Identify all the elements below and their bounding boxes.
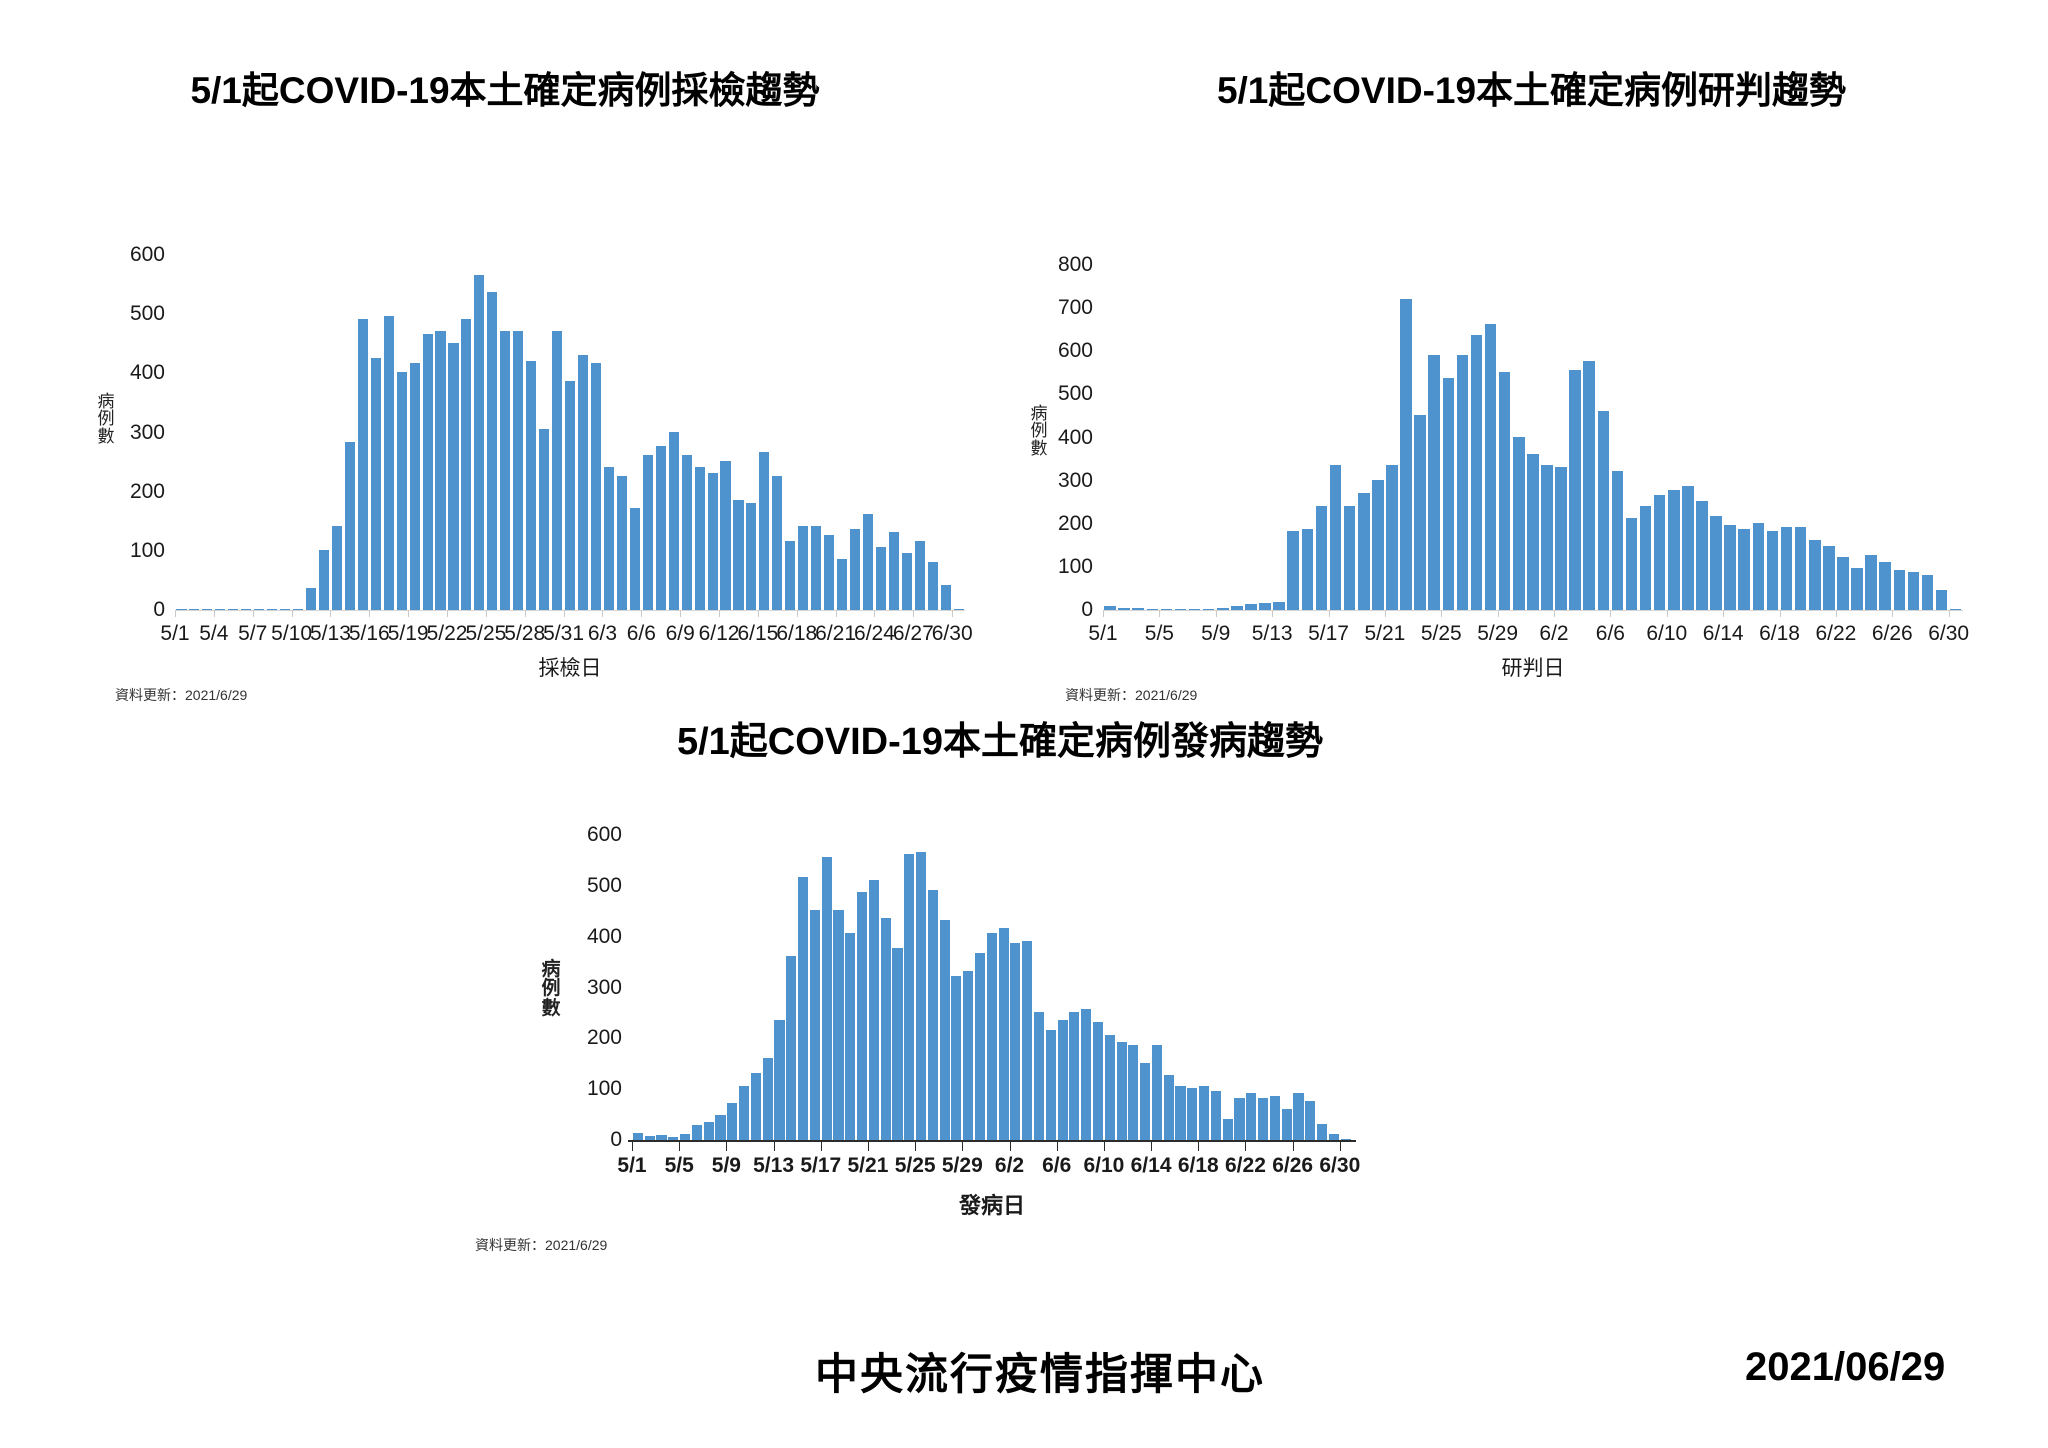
chart-panel-sampling: 5/1起COVID-19本土確定病例採檢趨勢 病例數 0100200300400… [0, 60, 1010, 660]
bar-slot [750, 835, 762, 1140]
bar [1710, 516, 1722, 610]
x-tick-label: 5/29 [942, 1154, 983, 1178]
x-tick-mark [1667, 610, 1681, 617]
bar-slot [632, 835, 644, 1140]
y-tick-label: 200 [1041, 512, 1093, 536]
x-tick-mark [382, 610, 395, 617]
x-tick-mark [201, 610, 214, 617]
x-tick-mark [1163, 1142, 1175, 1149]
infographic-page: 5/1起COVID-19本土確定病例採檢趨勢 病例數 0100200300400… [0, 0, 2048, 1448]
x-tick-mark [915, 1142, 927, 1149]
bar-slot [1159, 265, 1173, 610]
x-tick-mark [1385, 610, 1399, 617]
x-tick-mark [499, 610, 512, 617]
bar [692, 1125, 702, 1140]
x-tick-mark [903, 1142, 915, 1149]
x-tick-mark [1103, 610, 1117, 617]
bar [1922, 575, 1934, 611]
x-tick-mark [1709, 610, 1723, 617]
bar [941, 585, 951, 610]
x-tick-mark [1117, 610, 1131, 617]
bar-slot [913, 255, 926, 610]
y-tick-label: 700 [1041, 296, 1093, 320]
bar [1908, 572, 1920, 610]
bar-slot [1127, 835, 1139, 1140]
y-tick-label: 200 [113, 480, 165, 504]
bar [1781, 527, 1793, 610]
bar [1246, 1093, 1256, 1140]
x-tick-mark [590, 610, 603, 617]
x-tick-label: 5/9 [1201, 622, 1230, 646]
x-tick-mark [1173, 610, 1187, 617]
bar-slot [900, 255, 913, 610]
bar-slot [1864, 265, 1878, 610]
bar [1046, 1030, 1056, 1140]
x-tick-mark [939, 1142, 951, 1149]
bar-slot [266, 255, 279, 610]
x-tick-mark [1695, 610, 1709, 617]
bar-slot [1202, 265, 1216, 610]
bar [892, 948, 902, 1140]
bar [1879, 562, 1891, 610]
x-tick-mark [175, 610, 188, 617]
bar-slot [1906, 265, 1920, 610]
bar-slot [175, 255, 188, 610]
x-tick-mark [719, 610, 732, 617]
bar-slot [821, 835, 833, 1140]
bar-slot [771, 255, 784, 610]
bar [1302, 529, 1314, 610]
bar [1372, 480, 1384, 610]
bar-slot [1139, 835, 1151, 1140]
bar [1010, 943, 1020, 1140]
x-tick-mark [926, 610, 939, 617]
bar-slot [986, 835, 998, 1140]
x-tick-label: 6/6 [1596, 622, 1625, 646]
x-tick-label: 6/18 [1759, 622, 1800, 646]
bar-slot [844, 835, 856, 1140]
bar [1105, 1035, 1115, 1140]
bar-slot [201, 255, 214, 610]
bar [928, 562, 938, 610]
x-tick-label: 5/17 [1308, 622, 1349, 646]
x-tick-label: 5/25 [465, 622, 506, 646]
bar [1513, 437, 1525, 611]
bar-slot [1343, 265, 1357, 610]
bar-slot [240, 255, 253, 610]
x-tick-label: 5/13 [310, 622, 351, 646]
x-tick-mark [615, 610, 628, 617]
x-tick-label: 6/30 [1319, 1154, 1360, 1178]
y-tick-label: 400 [113, 361, 165, 385]
bar [695, 467, 705, 610]
bar-slot [188, 255, 201, 610]
bar [1654, 495, 1666, 610]
x-tick-mark [1021, 1142, 1033, 1149]
x-tick-mark [1582, 610, 1596, 617]
bar [552, 331, 562, 610]
bar-slot [927, 835, 939, 1140]
x-tick-mark [892, 1142, 904, 1149]
bar-slot [1145, 265, 1159, 610]
x-tick-mark [1455, 610, 1469, 617]
bar-slot [1186, 835, 1198, 1140]
bar-slot [1949, 265, 1963, 610]
x-tick-label: 6/6 [1042, 1154, 1071, 1178]
x-tick-mark [1469, 610, 1483, 617]
x-tick-mark [1245, 1142, 1257, 1149]
x-tick-mark [644, 1142, 656, 1149]
bar-slot [343, 255, 356, 610]
bar [708, 473, 718, 610]
x-tick-mark [253, 610, 266, 617]
bar [824, 535, 834, 610]
x-tick-mark [1512, 610, 1526, 617]
x-tick-mark [1340, 1142, 1352, 1149]
y-tick-label: 100 [1041, 555, 1093, 579]
bar [1330, 465, 1342, 610]
x-tick-mark [1131, 610, 1145, 617]
bar [1428, 355, 1440, 610]
x-tick-label: 5/5 [665, 1154, 694, 1178]
bar-slot [227, 255, 240, 610]
bar [1894, 570, 1906, 610]
bar-slot [874, 255, 887, 610]
bar-slot [856, 835, 868, 1140]
bar [1273, 602, 1285, 610]
x-tick-mark [927, 1142, 939, 1149]
bar [1626, 518, 1638, 610]
x-tick-label: 6/30 [932, 622, 973, 646]
y-tick-label: 300 [570, 976, 622, 1000]
bar [798, 877, 808, 1140]
bar [617, 476, 627, 610]
x-tick-mark [1329, 610, 1343, 617]
x-tick-mark [1343, 610, 1357, 617]
x-tick-mark [1935, 610, 1949, 617]
x-tick-mark [408, 610, 421, 617]
bar [1400, 299, 1412, 611]
x-tick-label: 6/15 [737, 622, 778, 646]
bar [1270, 1096, 1280, 1140]
bar [785, 541, 795, 610]
bar-slot [1568, 265, 1582, 610]
x-tick-label: 5/28 [504, 622, 545, 646]
bar-slot [1751, 265, 1765, 610]
y-tick-label: 500 [570, 874, 622, 898]
y-tick-label: 200 [570, 1026, 622, 1050]
bar-slot [1385, 265, 1399, 610]
bar [1058, 1020, 1068, 1140]
x-tick-mark [1281, 1142, 1293, 1149]
bar [876, 547, 886, 610]
x-axis-tickmarks-sampling [175, 610, 965, 617]
bar-slot [1198, 835, 1210, 1140]
x-tick-label: 5/21 [1364, 622, 1405, 646]
y-tick-label: 0 [113, 598, 165, 622]
x-tick-mark [1244, 610, 1258, 617]
x-tick-label: 5/25 [1421, 622, 1462, 646]
x-tick-mark [758, 610, 771, 617]
bar [448, 343, 458, 610]
plot-area-sampling: 病例數 0100200300400500600 5/15/45/75/105/1… [0, 60, 1010, 660]
bar-slot [903, 835, 915, 1140]
y-tick-label: 100 [570, 1077, 622, 1101]
bar [1117, 1042, 1127, 1140]
x-tick-mark [844, 1142, 856, 1149]
bar-slot [305, 255, 318, 610]
x-tick-mark [1210, 1142, 1222, 1149]
bar [1316, 506, 1328, 611]
bar-slot [602, 255, 615, 610]
bar-slot [1222, 835, 1234, 1140]
x-tick-mark [679, 1142, 691, 1149]
x-tick-mark [874, 610, 887, 617]
x-tick-mark [1104, 1142, 1116, 1149]
y-tick-label: 400 [570, 925, 622, 949]
bar [1851, 568, 1863, 610]
bar-slot [679, 835, 691, 1140]
bar-slot [1653, 265, 1667, 610]
bar [963, 971, 973, 1140]
x-tick-mark [1127, 1142, 1139, 1149]
y-tick-label: 600 [570, 823, 622, 847]
bar [733, 500, 743, 610]
data-update-note-sampling: 資料更新：2021/6/29 [115, 685, 247, 705]
x-tick-mark [706, 610, 719, 617]
bar-slot [1173, 265, 1187, 610]
bar-slot [1469, 265, 1483, 610]
x-tick-label: 6/10 [1646, 622, 1687, 646]
bar [371, 358, 381, 610]
bar [578, 355, 588, 610]
bar-slot [998, 835, 1010, 1140]
bar [1809, 540, 1821, 610]
bar-slot [1709, 265, 1723, 610]
bar [850, 529, 860, 610]
bar [1865, 555, 1877, 610]
x-tick-mark [1737, 610, 1751, 617]
x-tick-mark [1836, 610, 1850, 617]
x-tick-mark [1188, 610, 1202, 617]
bar [1823, 546, 1835, 610]
bar [975, 953, 985, 1140]
bar-slot [1639, 265, 1653, 610]
bar-slot [797, 835, 809, 1140]
bar [643, 455, 653, 610]
bar [1457, 355, 1469, 610]
x-tick-label: 6/12 [699, 622, 740, 646]
bar-slot [758, 255, 771, 610]
x-tick-label: 6/18 [776, 622, 817, 646]
x-tick-mark [745, 610, 758, 617]
bar-slot [1582, 265, 1596, 610]
bar-slot [951, 835, 963, 1140]
bar-slot [1245, 835, 1257, 1140]
bar-slot [1216, 265, 1230, 610]
x-tick-mark [1765, 610, 1779, 617]
x-tick-label: 6/22 [1815, 622, 1856, 646]
bar [1696, 501, 1708, 610]
bar-slot [214, 255, 227, 610]
x-tick-label: 6/18 [1178, 1154, 1219, 1178]
x-tick-mark [1033, 1142, 1045, 1149]
x-tick-label: 6/14 [1131, 1154, 1172, 1178]
x-tick-mark [998, 1142, 1010, 1149]
bar [772, 476, 782, 610]
x-tick-mark [952, 610, 965, 617]
x-tick-mark [821, 1142, 833, 1149]
x-tick-mark [823, 610, 836, 617]
bar-slot [1484, 265, 1498, 610]
chart-panel-onset: 5/1起COVID-19本土確定病例發病趨勢 病例數 0100200300400… [480, 710, 1520, 1270]
x-tick-mark [693, 610, 706, 617]
x-tick-mark [369, 610, 382, 617]
x-tick-mark [240, 610, 253, 617]
bar [539, 429, 549, 610]
bar-slot [317, 255, 330, 610]
bar [1175, 1086, 1185, 1140]
bar [461, 319, 471, 610]
bar-slot [1610, 265, 1624, 610]
bar-slot [810, 255, 823, 610]
bar-slot [512, 255, 525, 610]
x-tick-mark [986, 1142, 998, 1149]
bar [1287, 531, 1299, 610]
x-tick-mark [849, 610, 862, 617]
x-tick-mark [1822, 610, 1836, 617]
bar-slot [644, 835, 656, 1140]
bar [1485, 324, 1497, 610]
bar-slot [460, 255, 473, 610]
bar [1583, 361, 1595, 610]
bar-slot [1667, 265, 1681, 610]
x-tick-mark [750, 1142, 762, 1149]
x-tick-mark [330, 610, 343, 617]
bar-slot [1328, 835, 1340, 1140]
bar [845, 933, 855, 1140]
bar [763, 1058, 773, 1140]
x-tick-mark [1498, 610, 1512, 617]
bar [928, 890, 938, 1140]
bar-slot [862, 255, 875, 610]
bar [591, 363, 601, 610]
bar [1386, 465, 1398, 610]
bar-slot [1010, 835, 1022, 1140]
x-tick-mark [1878, 610, 1892, 617]
x-tick-label: 6/22 [1225, 1154, 1266, 1178]
x-tick-label: 5/21 [848, 1154, 889, 1178]
x-tick-label: 6/14 [1703, 622, 1744, 646]
bar [1753, 523, 1765, 610]
bar-slot [745, 255, 758, 610]
x-tick-mark [1286, 610, 1300, 617]
bar-slot [880, 835, 892, 1140]
bar [630, 508, 640, 610]
bar [1612, 471, 1624, 610]
bar-slot [1045, 835, 1057, 1140]
bar [881, 918, 891, 1140]
x-axis-tickmarks-determination [1103, 610, 1963, 617]
bar-slot [1371, 265, 1385, 610]
bar [345, 442, 355, 610]
bar-slot [1234, 835, 1246, 1140]
bar [1282, 1109, 1292, 1141]
bar-slot [1878, 265, 1892, 610]
plot-area-determination: 病例數 0100200300400500600700800 5/15/55/95… [1015, 60, 2048, 660]
x-tick-mark [691, 1142, 703, 1149]
x-tick-label: 6/9 [666, 622, 695, 646]
bar-slot [836, 255, 849, 610]
bar-slot [1512, 265, 1526, 610]
x-tick-label: 5/10 [271, 622, 312, 646]
x-tick-mark [784, 610, 797, 617]
bar-slot [1737, 265, 1751, 610]
bar-slot [473, 255, 486, 610]
bar [1293, 1093, 1303, 1140]
x-tick-mark [1230, 610, 1244, 617]
x-tick-mark [785, 1142, 797, 1149]
bar [1069, 1012, 1079, 1140]
x-tick-mark [1610, 610, 1624, 617]
bar [727, 1103, 737, 1140]
y-tick-label: 800 [1041, 253, 1093, 277]
x-tick-mark [1139, 1142, 1151, 1149]
bar-slot [499, 255, 512, 610]
bar-slot [1935, 265, 1949, 610]
bar-slot [564, 255, 577, 610]
x-tick-mark [1751, 610, 1765, 617]
chart-panel-determination: 5/1起COVID-19本土確定病例研判趨勢 病例數 0100200300400… [1015, 60, 2048, 660]
bar [669, 432, 679, 611]
bar-slot [1188, 265, 1202, 610]
x-tick-mark [343, 610, 356, 617]
x-tick-mark [1596, 610, 1610, 617]
bar [1344, 506, 1356, 611]
bar-slot [706, 255, 719, 610]
bar [889, 532, 899, 610]
bar [1471, 335, 1483, 610]
bar-slot [1316, 835, 1328, 1140]
x-tick-mark [1159, 610, 1173, 617]
bar-slot [962, 835, 974, 1140]
bar-slot [1329, 265, 1343, 610]
bar-slot [421, 255, 434, 610]
bar-slot [719, 255, 732, 610]
bar-slot [887, 255, 900, 610]
bar [1259, 603, 1271, 610]
x-tick-mark [564, 610, 577, 617]
bar [1682, 486, 1694, 610]
x-tick-mark [738, 1142, 750, 1149]
bar-slot [680, 255, 693, 610]
x-tick-mark [1293, 1142, 1305, 1149]
y-tick-label: 300 [113, 421, 165, 445]
footer-organization: 中央流行疫情指揮中心 [815, 1340, 1265, 1402]
bar-slot [615, 255, 628, 610]
bar-slot [525, 255, 538, 610]
x-tick-label: 6/6 [627, 622, 656, 646]
bar-slot [408, 255, 421, 610]
bar-slot [590, 255, 603, 610]
x-tick-mark [1808, 610, 1822, 617]
bar [565, 381, 575, 610]
x-tick-mark [266, 610, 279, 617]
bar-slot [1822, 265, 1836, 610]
bar [1081, 1009, 1091, 1140]
bar-slot [732, 255, 745, 610]
bar [751, 1073, 761, 1140]
